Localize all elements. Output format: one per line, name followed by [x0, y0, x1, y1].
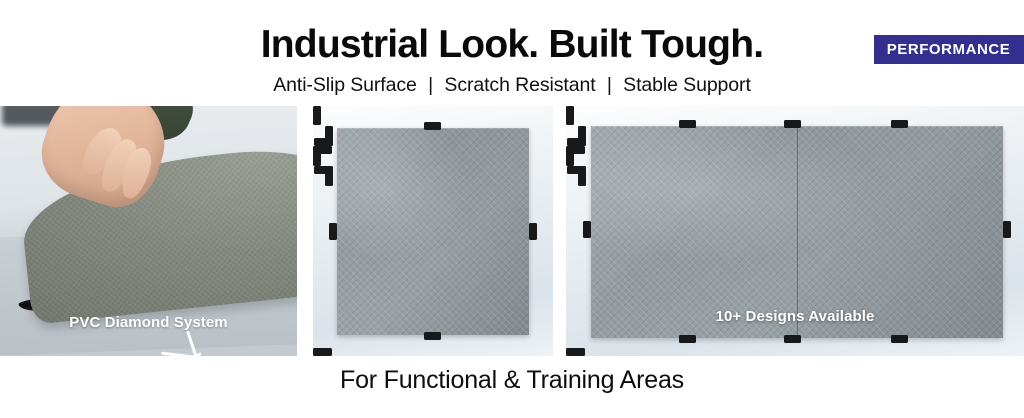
connector-clip	[313, 146, 333, 166]
connector-clip	[891, 335, 908, 343]
connector-clip	[1003, 221, 1011, 238]
photo-caption: 10+ Designs Available	[566, 308, 1024, 325]
tile-seam	[797, 126, 798, 338]
connector-clip	[679, 120, 696, 128]
status-badge: PERFORMANCE	[874, 35, 1024, 64]
connector-clip	[891, 120, 908, 128]
feature-list: Anti-Slip Surface | Scratch Resistant | …	[0, 74, 1024, 97]
photo-caption: PVC Diamond System	[0, 314, 297, 331]
connector-clip	[329, 223, 337, 240]
connector-clip	[566, 166, 586, 186]
pvc-diamond-system-photo: PVC Diamond System	[0, 106, 297, 356]
page-title: Industrial Look. Built Tough.	[0, 24, 1024, 66]
connector-clip	[313, 126, 333, 146]
status-badge-label: PERFORMANCE	[887, 41, 1011, 58]
connector-clip	[679, 335, 696, 343]
connector-clip	[424, 332, 441, 340]
mat-tile-pair	[591, 126, 1003, 338]
connector-clip	[529, 223, 537, 240]
connector-clip	[784, 335, 801, 343]
single-tile-photo	[313, 106, 553, 356]
footer-tagline: For Functional & Training Areas	[0, 366, 1024, 395]
feature-separator-0: |	[422, 74, 439, 97]
feature-item-0: Anti-Slip Surface	[273, 74, 417, 96]
connector-clip	[566, 126, 586, 146]
feature-item-1: Scratch Resistant	[444, 74, 595, 96]
connector-clip	[424, 122, 441, 130]
feature-item-2: Stable Support	[623, 74, 751, 96]
connector-clip	[313, 166, 333, 186]
mat-tile	[337, 128, 529, 335]
connector-clip	[583, 221, 591, 238]
surface-sheen	[337, 128, 529, 335]
connector-clip	[566, 146, 586, 166]
product-feature-banner: Industrial Look. Built Tough. Anti-Slip …	[0, 0, 1024, 418]
feature-separator-1: |	[601, 74, 618, 97]
joined-tiles-photo: 10+ Designs Available	[566, 106, 1024, 356]
connector-clip	[784, 120, 801, 128]
product-image-gallery: PVC Diamond System	[0, 106, 1024, 356]
